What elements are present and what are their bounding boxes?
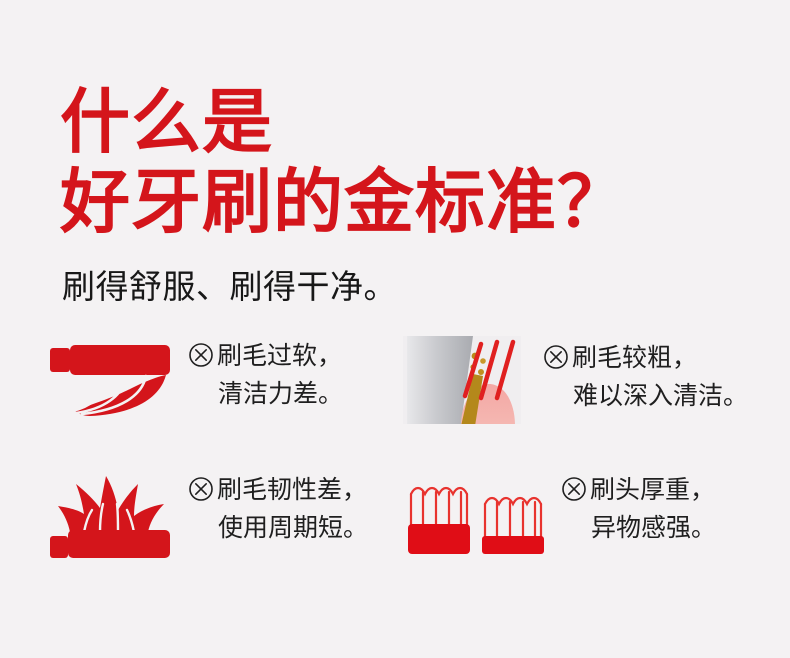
feature-item-soft-bristles: 刷毛过软， 清洁力差。 [48, 334, 403, 464]
feature-item-frayed-bristles: 刷毛韧性差， 使用周期短。 [48, 464, 403, 594]
feature-item-coarse-bristles: 刷毛较粗， 难以深入清洁。 [403, 334, 790, 464]
page-title: 什么是 好牙刷的金标准？ [60, 85, 760, 243]
feature-line-2: 难以深入清洁。 [543, 378, 748, 416]
circled-x-icon [561, 476, 587, 502]
feature-text: 刷头厚重， 异物感强。 [561, 464, 716, 547]
feature-line-1: 刷头厚重， [561, 472, 716, 510]
feature-line-1: 刷毛较粗， [543, 340, 748, 378]
headline-line-1: 什么是 [60, 85, 760, 163]
feature-text: 刷毛较粗， 难以深入清洁。 [543, 334, 748, 415]
feature-text: 刷毛韧性差， 使用周期短。 [188, 464, 368, 547]
feature-line-1-text: 刷毛较粗， [572, 344, 697, 372]
circled-x-icon [188, 342, 214, 368]
feature-line-1: 刷毛过软， [188, 338, 343, 376]
promo-page: 什么是 好牙刷的金标准？ 刷得舒服、刷得干净。 [0, 0, 790, 658]
feature-line-2: 清洁力差。 [188, 376, 343, 414]
subtitle: 刷得舒服、刷得干净。 [62, 267, 397, 307]
circled-x-icon [543, 344, 569, 370]
feature-line-2: 使用周期短。 [188, 510, 368, 548]
feature-text: 刷毛过软， 清洁力差。 [188, 334, 343, 413]
circled-x-icon [188, 476, 214, 502]
feature-line-1: 刷毛韧性差， [188, 472, 368, 510]
feature-list: 刷毛过软， 清洁力差。 [0, 334, 790, 594]
feature-line-1-text: 刷毛过软， [217, 342, 342, 370]
feature-line-1-text: 刷头厚重， [590, 476, 715, 504]
thick-brush-head-icon [403, 470, 553, 562]
feature-line-2: 异物感强。 [561, 510, 716, 548]
feature-item-thick-brush-head: 刷头厚重， 异物感强。 [403, 464, 790, 594]
feature-line-1-text: 刷毛韧性差， [217, 476, 367, 504]
frayed-bristles-icon [48, 470, 180, 562]
headline-line-2: 好牙刷的金标准？ [60, 165, 760, 243]
coarse-bristles-tooth-icon [403, 334, 535, 426]
soft-bristles-icon [48, 336, 180, 428]
